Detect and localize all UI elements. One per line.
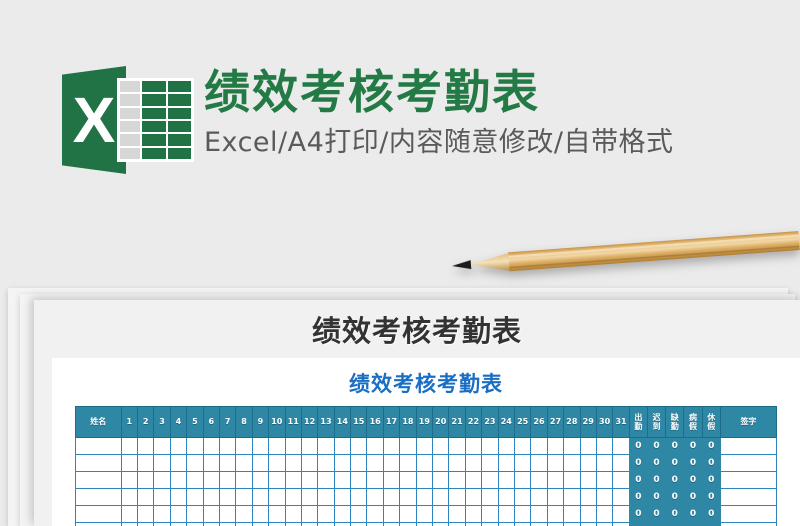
cell-day[interactable]: [219, 523, 235, 526]
cell-day[interactable]: [121, 489, 137, 506]
cell-day[interactable]: [416, 455, 432, 472]
cell-day[interactable]: [252, 455, 268, 472]
cell-day[interactable]: [252, 438, 268, 455]
cell-day[interactable]: [449, 438, 465, 455]
excel-logo-icon: X: [62, 62, 194, 178]
cell-day[interactable]: [514, 523, 530, 526]
header-day[interactable]: 23: [482, 407, 498, 438]
cell-day[interactable]: [219, 489, 235, 506]
cell-day[interactable]: [154, 489, 170, 506]
cell-day[interactable]: [514, 438, 530, 455]
hero-subtitle: Excel/A4打印/内容随意修改/自带格式: [204, 127, 784, 159]
header-summary[interactable]: 休假: [702, 407, 720, 438]
cell-day[interactable]: [400, 455, 416, 472]
cell-day[interactable]: [547, 438, 563, 455]
header-day[interactable]: 22: [465, 407, 481, 438]
header-summary-line1: 迟: [648, 413, 665, 422]
cell-day[interactable]: [465, 472, 481, 489]
cell-day[interactable]: [416, 472, 432, 489]
cell-day[interactable]: [531, 523, 547, 526]
cell-day[interactable]: [416, 523, 432, 526]
header-summary-line2: 勤: [666, 422, 683, 431]
cell-summary[interactable]: 0: [666, 506, 684, 523]
cell-day[interactable]: [514, 506, 530, 523]
header-day[interactable]: 8: [236, 407, 252, 438]
cell-day[interactable]: [351, 472, 367, 489]
cell-day[interactable]: [613, 489, 629, 506]
cell-day[interactable]: [482, 438, 498, 455]
hero-banner: X 绩效考核考勤表 Excel/A4打印/内容随意修改/自带格式: [0, 0, 800, 270]
cell-day[interactable]: [170, 523, 186, 526]
cell-day[interactable]: [547, 472, 563, 489]
cell-day[interactable]: [449, 506, 465, 523]
cell-day[interactable]: [269, 489, 285, 506]
header-summary-line1: 出: [630, 413, 647, 422]
cell-day[interactable]: [498, 523, 514, 526]
cell-day[interactable]: [367, 455, 383, 472]
cell-summary[interactable]: 0: [702, 472, 720, 489]
cell-summary[interactable]: 0: [702, 489, 720, 506]
cell-day[interactable]: [465, 506, 481, 523]
cell-day[interactable]: [596, 506, 612, 523]
cell-day[interactable]: [203, 438, 219, 455]
cell-signature[interactable]: [720, 438, 776, 455]
cell-day[interactable]: [465, 523, 481, 526]
cell-day[interactable]: [285, 506, 301, 523]
cell-summary[interactable]: 0: [647, 506, 665, 523]
table-row[interactable]: 00000: [76, 489, 777, 506]
cell-day[interactable]: [252, 506, 268, 523]
cell-day[interactable]: [285, 455, 301, 472]
cell-day[interactable]: [613, 438, 629, 455]
header-summary-line1: 病: [684, 413, 701, 422]
cell-day[interactable]: [137, 489, 153, 506]
cell-day[interactable]: [170, 455, 186, 472]
cell-day[interactable]: [416, 506, 432, 523]
cell-day[interactable]: [334, 438, 350, 455]
cell-day[interactable]: [383, 472, 399, 489]
cell-day[interactable]: [187, 438, 203, 455]
header-day[interactable]: 11: [285, 407, 301, 438]
cell-day[interactable]: [613, 455, 629, 472]
header-day[interactable]: 31: [613, 407, 629, 438]
document-header: 绩效考核考勤表: [34, 300, 800, 358]
header-summary-line1: 休: [703, 413, 720, 422]
header-day[interactable]: 6: [203, 407, 219, 438]
header-summary[interactable]: 病假: [684, 407, 702, 438]
cell-day[interactable]: [137, 506, 153, 523]
header-day[interactable]: 25: [514, 407, 530, 438]
header-summary[interactable]: 缺勤: [666, 407, 684, 438]
cell-day[interactable]: [154, 506, 170, 523]
cell-day[interactable]: [334, 523, 350, 526]
cell-summary[interactable]: 0: [666, 438, 684, 455]
cell-day[interactable]: [613, 523, 629, 526]
table-row[interactable]: 00000: [76, 455, 777, 472]
cell-summary[interactable]: 0: [647, 472, 665, 489]
header-day[interactable]: 7: [219, 407, 235, 438]
cell-day[interactable]: [285, 523, 301, 526]
cell-day[interactable]: [236, 455, 252, 472]
header-summary-line1: 缺: [666, 413, 683, 422]
cell-day[interactable]: [613, 506, 629, 523]
cell-day[interactable]: [580, 455, 596, 472]
cell-summary[interactable]: 0: [629, 455, 647, 472]
cell-day[interactable]: [564, 506, 580, 523]
cell-day[interactable]: [170, 489, 186, 506]
cell-day[interactable]: [531, 438, 547, 455]
cell-day[interactable]: [580, 506, 596, 523]
cell-day[interactable]: [498, 506, 514, 523]
cell-day[interactable]: [285, 489, 301, 506]
header-name[interactable]: 姓名: [76, 407, 122, 438]
spreadsheet-sheet[interactable]: 绩效考核考勤表 姓名 12345678910111213141516171819…: [52, 358, 800, 526]
cell-day[interactable]: [318, 455, 334, 472]
cell-name[interactable]: [76, 523, 122, 526]
cell-day[interactable]: [367, 472, 383, 489]
cell-day[interactable]: [351, 506, 367, 523]
cell-signature[interactable]: [720, 506, 776, 523]
cell-day[interactable]: [596, 489, 612, 506]
cell-day[interactable]: [137, 472, 153, 489]
cell-signature[interactable]: [720, 523, 776, 526]
header-summary-line2: 假: [703, 422, 720, 431]
cell-day[interactable]: [351, 523, 367, 526]
cell-day[interactable]: [449, 523, 465, 526]
cell-day[interactable]: [400, 438, 416, 455]
header-day[interactable]: 28: [564, 407, 580, 438]
cell-day[interactable]: [613, 472, 629, 489]
cell-day[interactable]: [498, 472, 514, 489]
cell-day[interactable]: [400, 506, 416, 523]
cell-day[interactable]: [236, 438, 252, 455]
cell-summary[interactable]: 0: [684, 523, 702, 526]
cell-day[interactable]: [351, 489, 367, 506]
cell-signature[interactable]: [720, 489, 776, 506]
cell-day[interactable]: [433, 472, 449, 489]
cell-day[interactable]: [482, 523, 498, 526]
cell-day[interactable]: [383, 523, 399, 526]
cell-day[interactable]: [514, 472, 530, 489]
header-day[interactable]: 30: [596, 407, 612, 438]
header-day[interactable]: 9: [252, 407, 268, 438]
header-day[interactable]: 10: [269, 407, 285, 438]
cell-day[interactable]: [121, 455, 137, 472]
cell-day[interactable]: [531, 472, 547, 489]
cell-summary[interactable]: 0: [666, 455, 684, 472]
cell-day[interactable]: [580, 438, 596, 455]
header-day[interactable]: 21: [449, 407, 465, 438]
cell-day[interactable]: [367, 523, 383, 526]
header-day[interactable]: 29: [580, 407, 596, 438]
cell-day[interactable]: [203, 472, 219, 489]
cell-day[interactable]: [269, 455, 285, 472]
header-day[interactable]: 3: [154, 407, 170, 438]
cell-day[interactable]: [236, 523, 252, 526]
table-header: 姓名 1234567891011121314151617181920212223…: [76, 407, 777, 438]
cell-summary[interactable]: 0: [666, 523, 684, 526]
cell-day[interactable]: [121, 523, 137, 526]
cell-summary[interactable]: 0: [647, 455, 665, 472]
cell-summary[interactable]: 0: [684, 489, 702, 506]
cell-day[interactable]: [187, 506, 203, 523]
cell-day[interactable]: [318, 489, 334, 506]
cell-summary[interactable]: 0: [702, 438, 720, 455]
cell-day[interactable]: [367, 438, 383, 455]
cell-day[interactable]: [367, 506, 383, 523]
cell-day[interactable]: [252, 489, 268, 506]
cell-day[interactable]: [564, 472, 580, 489]
cell-day[interactable]: [531, 506, 547, 523]
cell-day[interactable]: [236, 489, 252, 506]
header-summary-line2: 假: [684, 422, 701, 431]
cell-day[interactable]: [351, 455, 367, 472]
header-day[interactable]: 13: [318, 407, 334, 438]
header-day[interactable]: 24: [498, 407, 514, 438]
cell-day[interactable]: [236, 506, 252, 523]
table-row[interactable]: 00000: [76, 506, 777, 523]
cell-day[interactable]: [301, 506, 317, 523]
cell-name[interactable]: [76, 506, 122, 523]
cell-summary[interactable]: 0: [647, 523, 665, 526]
cell-name[interactable]: [76, 489, 122, 506]
sheet-title: 绩效考核考勤表: [52, 358, 800, 406]
cell-summary[interactable]: 0: [629, 489, 647, 506]
header-day[interactable]: 2: [137, 407, 153, 438]
cell-day[interactable]: [334, 506, 350, 523]
header-day[interactable]: 4: [170, 407, 186, 438]
cell-day[interactable]: [269, 523, 285, 526]
cell-summary[interactable]: 0: [647, 438, 665, 455]
cell-day[interactable]: [433, 506, 449, 523]
cell-day[interactable]: [564, 489, 580, 506]
cell-day[interactable]: [449, 455, 465, 472]
header-day[interactable]: 16: [367, 407, 383, 438]
cell-day[interactable]: [137, 455, 153, 472]
cell-day[interactable]: [203, 523, 219, 526]
cell-summary[interactable]: 0: [684, 438, 702, 455]
table-row[interactable]: 00000: [76, 523, 777, 526]
cell-summary[interactable]: 0: [629, 506, 647, 523]
cell-day[interactable]: [433, 438, 449, 455]
cell-day[interactable]: [498, 455, 514, 472]
table-row[interactable]: 00000: [76, 438, 777, 455]
cell-day[interactable]: [596, 455, 612, 472]
cell-day[interactable]: [564, 438, 580, 455]
cell-day[interactable]: [482, 472, 498, 489]
cell-day[interactable]: [285, 438, 301, 455]
cell-name[interactable]: [76, 472, 122, 489]
cell-day[interactable]: [433, 455, 449, 472]
cell-day[interactable]: [514, 455, 530, 472]
cell-day[interactable]: [187, 523, 203, 526]
header-summary[interactable]: 迟到: [647, 407, 665, 438]
cell-day[interactable]: [219, 506, 235, 523]
cell-day[interactable]: [301, 438, 317, 455]
header-day[interactable]: 19: [416, 407, 432, 438]
cell-day[interactable]: [301, 523, 317, 526]
table-body[interactable]: 00000000000000000000000000000000000: [76, 438, 777, 526]
cell-summary[interactable]: 0: [629, 438, 647, 455]
cell-day[interactable]: [482, 489, 498, 506]
cell-day[interactable]: [564, 523, 580, 526]
cell-day[interactable]: [531, 455, 547, 472]
header-day[interactable]: 27: [547, 407, 563, 438]
cell-signature[interactable]: [720, 472, 776, 489]
cell-day[interactable]: [154, 438, 170, 455]
cell-day[interactable]: [596, 438, 612, 455]
cell-day[interactable]: [580, 472, 596, 489]
attendance-table[interactable]: 姓名 1234567891011121314151617181920212223…: [75, 406, 777, 526]
cell-summary[interactable]: 0: [702, 455, 720, 472]
cell-day[interactable]: [203, 506, 219, 523]
cell-day[interactable]: [383, 506, 399, 523]
cell-day[interactable]: [236, 472, 252, 489]
header-summary-line2: 到: [648, 422, 665, 431]
cell-day[interactable]: [433, 523, 449, 526]
cell-day[interactable]: [531, 489, 547, 506]
table-header-row: 姓名 1234567891011121314151617181920212223…: [76, 407, 777, 438]
cell-day[interactable]: [449, 489, 465, 506]
cell-day[interactable]: [482, 455, 498, 472]
cell-day[interactable]: [137, 438, 153, 455]
cell-summary[interactable]: 0: [702, 506, 720, 523]
header-day[interactable]: 20: [433, 407, 449, 438]
cell-day[interactable]: [580, 523, 596, 526]
cell-day[interactable]: [334, 489, 350, 506]
cell-day[interactable]: [285, 472, 301, 489]
cell-day[interactable]: [400, 472, 416, 489]
header-day[interactable]: 15: [351, 407, 367, 438]
cell-day[interactable]: [465, 489, 481, 506]
document-header-title: 绩效考核考勤表: [312, 308, 522, 350]
cell-day[interactable]: [187, 489, 203, 506]
header-day[interactable]: 12: [301, 407, 317, 438]
cell-day[interactable]: [269, 472, 285, 489]
cell-day[interactable]: [203, 455, 219, 472]
cell-day[interactable]: [269, 506, 285, 523]
header-day[interactable]: 26: [531, 407, 547, 438]
cell-day[interactable]: [203, 489, 219, 506]
table-row[interactable]: 00000: [76, 472, 777, 489]
cell-day[interactable]: [252, 523, 268, 526]
cell-day[interactable]: [383, 489, 399, 506]
excel-logo-grid: [117, 78, 194, 162]
cell-day[interactable]: [187, 472, 203, 489]
cell-day[interactable]: [301, 489, 317, 506]
cell-day[interactable]: [318, 506, 334, 523]
cell-day[interactable]: [154, 523, 170, 526]
header-day[interactable]: 17: [383, 407, 399, 438]
cell-day[interactable]: [383, 438, 399, 455]
cell-day[interactable]: [219, 472, 235, 489]
cell-day[interactable]: [334, 455, 350, 472]
cell-summary[interactable]: 0: [629, 472, 647, 489]
cell-summary[interactable]: 0: [684, 472, 702, 489]
cell-name[interactable]: [76, 455, 122, 472]
cell-day[interactable]: [318, 523, 334, 526]
cell-day[interactable]: [400, 489, 416, 506]
hero-title: 绩效考核考勤表: [204, 66, 784, 119]
cell-day[interactable]: [334, 472, 350, 489]
cell-summary[interactable]: 0: [666, 489, 684, 506]
cell-day[interactable]: [416, 489, 432, 506]
cell-day[interactable]: [383, 455, 399, 472]
cell-day[interactable]: [367, 489, 383, 506]
cell-day[interactable]: [416, 438, 432, 455]
cell-day[interactable]: [137, 523, 153, 526]
hero-text-block: 绩效考核考勤表 Excel/A4打印/内容随意修改/自带格式: [204, 66, 784, 159]
header-signature[interactable]: 签字: [720, 407, 776, 438]
cell-day[interactable]: [154, 472, 170, 489]
cell-day[interactable]: [269, 438, 285, 455]
cell-day[interactable]: [547, 523, 563, 526]
header-day[interactable]: 5: [187, 407, 203, 438]
cell-summary[interactable]: 0: [629, 523, 647, 526]
cell-summary[interactable]: 0: [666, 472, 684, 489]
cell-day[interactable]: [547, 506, 563, 523]
cell-day[interactable]: [170, 472, 186, 489]
cell-day[interactable]: [580, 489, 596, 506]
cell-day[interactable]: [596, 523, 612, 526]
cell-day[interactable]: [121, 472, 137, 489]
cell-day[interactable]: [465, 438, 481, 455]
cell-day[interactable]: [514, 489, 530, 506]
cell-day[interactable]: [121, 506, 137, 523]
header-day[interactable]: 18: [400, 407, 416, 438]
header-summary-line2: 勤: [630, 422, 647, 431]
cell-day[interactable]: [301, 472, 317, 489]
cell-day[interactable]: [187, 455, 203, 472]
cell-day[interactable]: [596, 472, 612, 489]
cell-day[interactable]: [498, 489, 514, 506]
cell-day[interactable]: [301, 455, 317, 472]
cell-day[interactable]: [219, 438, 235, 455]
cell-day[interactable]: [154, 455, 170, 472]
cell-day[interactable]: [564, 455, 580, 472]
document-preview[interactable]: 绩效考核考勤表 绩效考核考勤表 姓名 123456789101112131415…: [34, 300, 800, 526]
cell-summary[interactable]: 0: [684, 506, 702, 523]
header-day[interactable]: 1: [121, 407, 137, 438]
cell-day[interactable]: [318, 472, 334, 489]
cell-day[interactable]: [498, 438, 514, 455]
cell-day[interactable]: [318, 438, 334, 455]
cell-day[interactable]: [170, 506, 186, 523]
cell-day[interactable]: [433, 489, 449, 506]
header-day[interactable]: 14: [334, 407, 350, 438]
cell-day[interactable]: [121, 438, 137, 455]
cell-day[interactable]: [465, 455, 481, 472]
cell-day[interactable]: [170, 438, 186, 455]
cell-summary[interactable]: 0: [684, 455, 702, 472]
cell-day[interactable]: [351, 438, 367, 455]
cell-day[interactable]: [449, 472, 465, 489]
cell-day[interactable]: [219, 455, 235, 472]
cell-day[interactable]: [400, 523, 416, 526]
cell-day[interactable]: [482, 506, 498, 523]
cell-day[interactable]: [547, 455, 563, 472]
cell-day[interactable]: [547, 489, 563, 506]
header-summary[interactable]: 出勤: [629, 407, 647, 438]
cell-signature[interactable]: [720, 455, 776, 472]
cell-name[interactable]: [76, 438, 122, 455]
cell-summary[interactable]: 0: [702, 523, 720, 526]
cell-day[interactable]: [252, 472, 268, 489]
cell-summary[interactable]: 0: [647, 489, 665, 506]
